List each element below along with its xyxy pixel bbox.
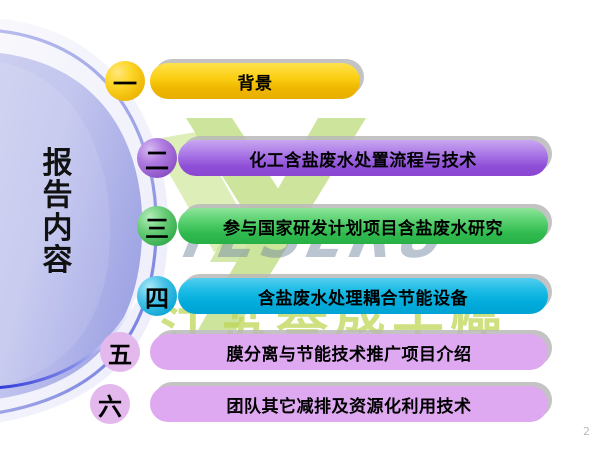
agenda-number-circle-1[interactable]: 一 bbox=[105, 61, 145, 101]
agenda-number-circle-5[interactable]: 五 bbox=[100, 332, 140, 372]
slide-canvas: YESERU 江苏誉盛干燥 报 告 内 容 背景一化工含盐废水处置流程与技术二参… bbox=[0, 0, 600, 450]
slide-vertical-title: 报 告 内 容 bbox=[36, 148, 80, 278]
agenda-label-4: 含盐废水处理耦合节能设备 bbox=[258, 284, 468, 309]
vertical-title-char-1: 报 bbox=[36, 148, 80, 180]
agenda-number-5: 五 bbox=[108, 335, 132, 370]
agenda-pill-5[interactable]: 膜分离与节能技术推广项目介绍 bbox=[150, 334, 548, 370]
agenda-number-circle-2[interactable]: 二 bbox=[137, 138, 177, 178]
page-number: 2 bbox=[583, 425, 590, 438]
agenda-number-4: 四 bbox=[145, 279, 169, 314]
agenda-pill-1[interactable]: 背景 bbox=[150, 63, 360, 99]
vertical-title-char-2: 告 bbox=[36, 180, 80, 212]
agenda-number-1: 一 bbox=[113, 64, 137, 99]
agenda-label-6: 团队其它减排及资源化利用技术 bbox=[227, 392, 472, 417]
agenda-label-2: 化工含盐废水处置流程与技术 bbox=[249, 146, 477, 171]
agenda-number-circle-3[interactable]: 三 bbox=[137, 206, 177, 246]
agenda-label-1: 背景 bbox=[238, 69, 273, 94]
agenda-number-circle-4[interactable]: 四 bbox=[137, 276, 177, 316]
agenda-number-circle-6[interactable]: 六 bbox=[90, 384, 130, 424]
agenda-number-2: 二 bbox=[145, 141, 169, 176]
agenda-number-6: 六 bbox=[98, 387, 122, 422]
agenda-pill-3[interactable]: 参与国家研发计划项目含盐废水研究 bbox=[178, 208, 548, 244]
vertical-title-char-4: 容 bbox=[36, 245, 80, 277]
agenda-label-5: 膜分离与节能技术推广项目介绍 bbox=[227, 340, 472, 365]
agenda-number-3: 三 bbox=[145, 209, 169, 244]
vertical-title-char-3: 内 bbox=[36, 213, 80, 245]
agenda-label-3: 参与国家研发计划项目含盐废水研究 bbox=[223, 214, 503, 239]
agenda-pill-4[interactable]: 含盐废水处理耦合节能设备 bbox=[178, 278, 548, 314]
agenda-pill-6[interactable]: 团队其它减排及资源化利用技术 bbox=[150, 386, 548, 422]
agenda-pill-2[interactable]: 化工含盐废水处置流程与技术 bbox=[178, 140, 548, 176]
